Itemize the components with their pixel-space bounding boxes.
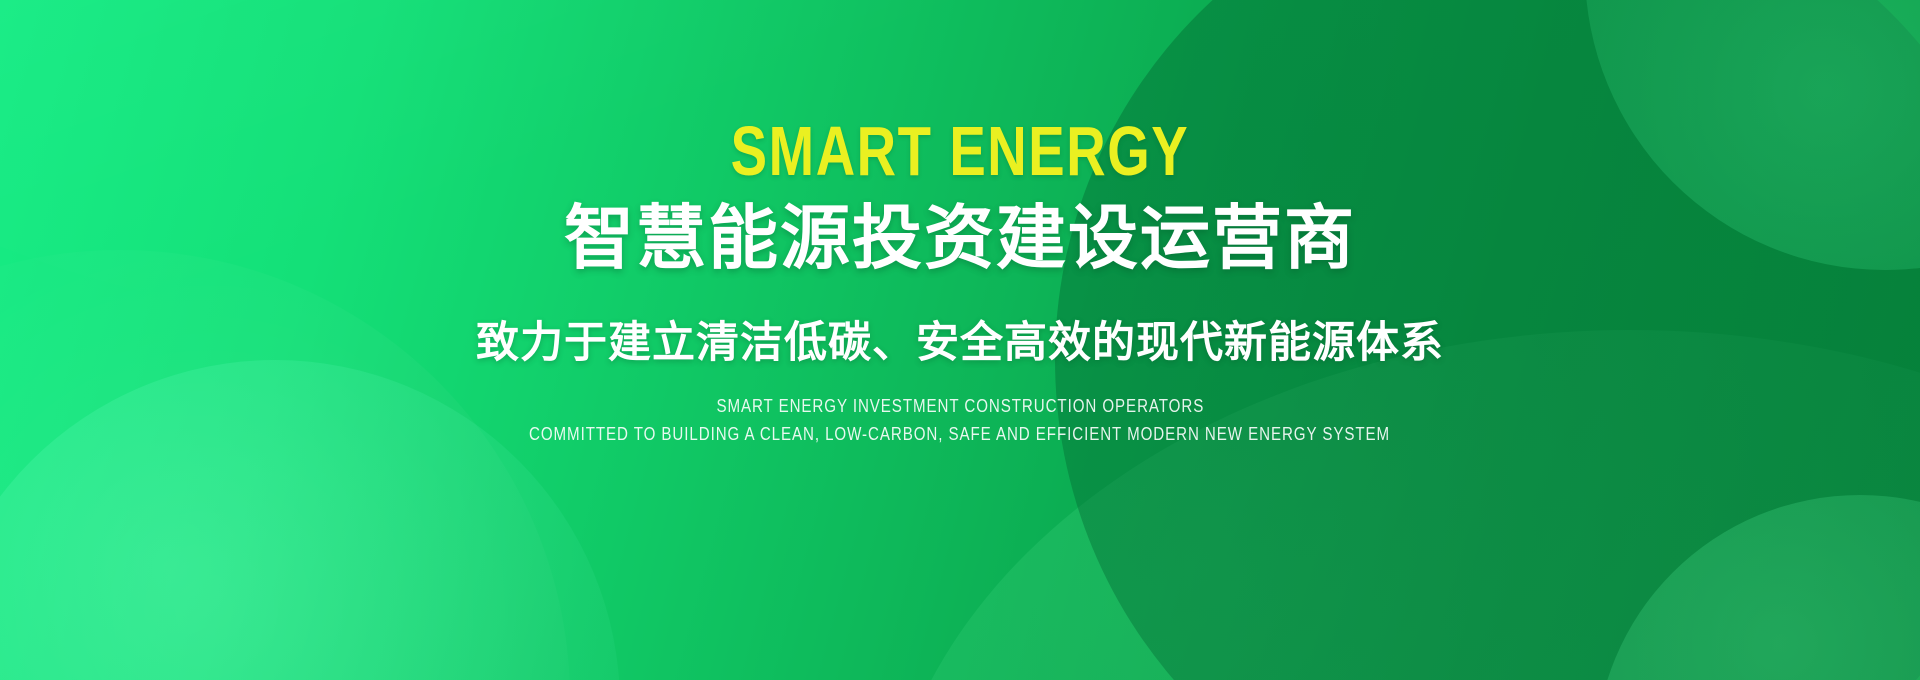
banner-tagline-chinese: 致力于建立清洁低碳、安全高效的现代新能源体系: [476, 320, 1444, 367]
banner-subtitle-english-line-1: SMART ENERGY INVESTMENT CONSTRUCTION OPE…: [716, 393, 1204, 421]
banner-title-chinese: 智慧能源投资建设运营商: [564, 202, 1356, 276]
banner-subtitle-english-line-2: COMMITTED TO BUILDING A CLEAN, LOW-CARBO…: [529, 421, 1390, 449]
smart-energy-banner: SMART ENERGY 智慧能源投资建设运营商 致力于建立清洁低碳、安全高效的…: [0, 0, 1920, 680]
banner-content: SMART ENERGY 智慧能源投资建设运营商 致力于建立清洁低碳、安全高效的…: [0, 0, 1920, 680]
banner-title-english: SMART ENERGY: [731, 116, 1190, 186]
